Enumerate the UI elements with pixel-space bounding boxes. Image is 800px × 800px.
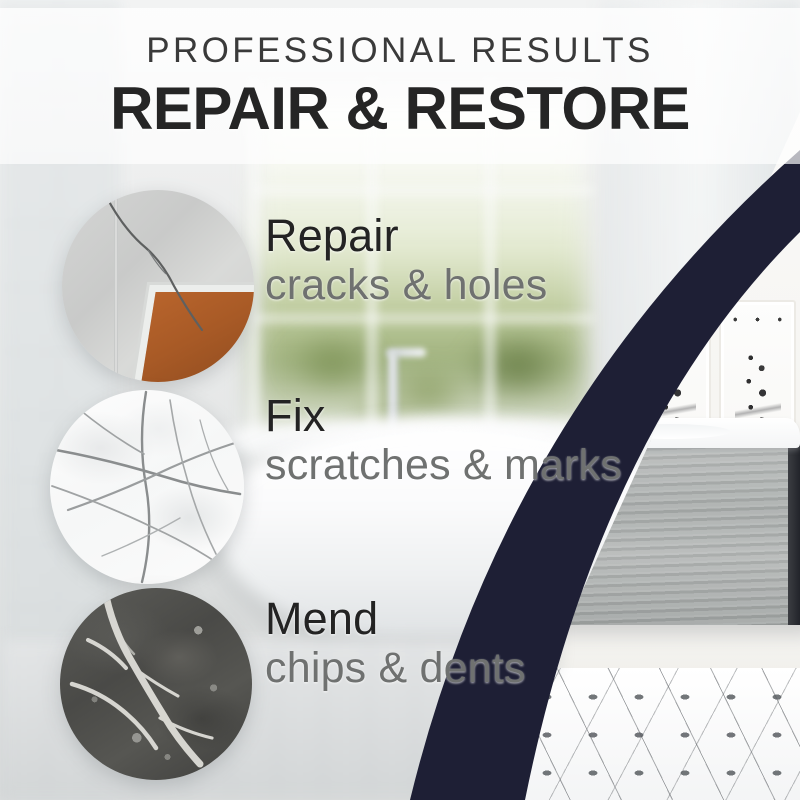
eyebrow-text: PROFESSIONAL RESULTS: [146, 33, 654, 68]
feature-title: Fix: [265, 392, 622, 440]
white-vein-icon: [60, 588, 252, 780]
feature-title: Mend: [265, 595, 526, 643]
dark-marble-thumbnail: [60, 588, 252, 780]
photo-vanity-edge: [788, 440, 800, 625]
feature-subtitle: cracks & holes: [265, 262, 547, 309]
feature-subtitle: chips & dents: [265, 645, 526, 692]
scratch-lines-icon: [50, 390, 244, 584]
crack-line-icon: [62, 190, 254, 382]
feature-item-fix: Fix scratches & marks: [265, 392, 622, 489]
headline-banner: PROFESSIONAL RESULTS REPAIR & RESTORE: [0, 8, 800, 164]
white-marble-thumbnail: [50, 390, 244, 584]
feature-item-mend: Mend chips & dents: [265, 595, 526, 692]
feature-item-repair: Repair cracks & holes: [265, 212, 547, 309]
page-title: REPAIR & RESTORE: [110, 79, 690, 139]
feature-title: Repair: [265, 212, 547, 260]
feature-subtitle: scratches & marks: [265, 442, 622, 489]
promo-banner: PROFESSIONAL RESULTS REPAIR & RESTORE Re…: [0, 0, 800, 800]
cracked-wall-thumbnail: [62, 190, 254, 382]
